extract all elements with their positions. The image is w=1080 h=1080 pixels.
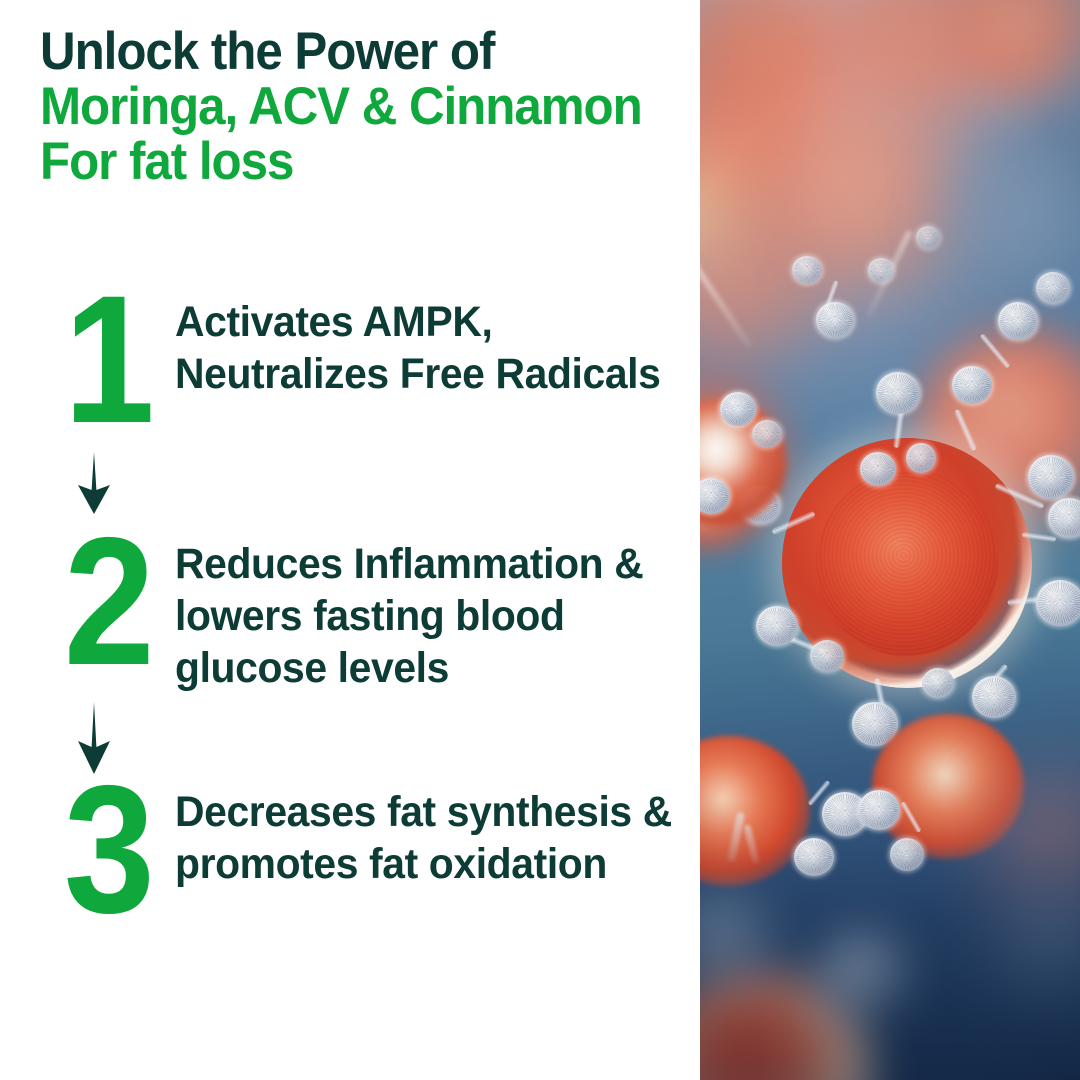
receptor-cluster: [752, 420, 782, 448]
step-item-3: 3 Decreases fat synthesis & promotes fat…: [40, 780, 690, 918]
step-number-3: 3: [47, 780, 169, 918]
step-text-3: Decreases fat synthesis & promotes fat o…: [175, 780, 672, 890]
step-text-2-line-1: Reduces Inflammation &: [175, 538, 643, 590]
step-text-3-line-2: promotes fat oxidation: [175, 838, 672, 890]
step-text-3-line-1: Decreases fat synthesis &: [175, 786, 672, 838]
receptor-cluster: [756, 606, 798, 646]
step-text-1-line-2: Neutralizes Free Radicals: [175, 348, 660, 400]
cell-biology-illustration: [700, 0, 1080, 1080]
receptor-cluster: [1036, 272, 1070, 304]
receptor-cluster: [1028, 455, 1074, 499]
steps-list: 1 Activates AMPK, Neutralizes Free Radic…: [0, 0, 700, 1080]
receptor-cluster: [794, 838, 834, 876]
step-text-2-line-3: glucose levels: [175, 642, 643, 694]
receptor-cluster: [890, 838, 924, 871]
receptor-cluster: [922, 668, 954, 698]
receptor-cluster: [858, 790, 900, 830]
receptor-cluster: [816, 302, 854, 338]
receptor-cluster: [998, 302, 1038, 340]
receptor-cluster: [952, 366, 992, 404]
hero-cell-nucleus: [816, 470, 998, 656]
step-text-2-line-2: lowers fasting blood: [175, 590, 643, 642]
infographic-page: Unlock the Power of Moringa, ACV & Cinna…: [0, 0, 1080, 1080]
step-text-1: Activates AMPK, Neutralizes Free Radical…: [175, 290, 660, 400]
receptor-cluster: [810, 640, 844, 672]
step-item-2: 2 Reduces Inflammation & lowers fasting …: [40, 532, 690, 694]
receptor-cluster: [1036, 580, 1080, 626]
step-text-2: Reduces Inflammation & lowers fasting bl…: [175, 532, 643, 694]
bg-cell-blur: [810, 930, 915, 1030]
receptor-cluster: [720, 392, 756, 426]
step-item-1: 1 Activates AMPK, Neutralizes Free Radic…: [40, 290, 690, 428]
step-number-1: 1: [47, 290, 169, 428]
receptor-cluster: [906, 443, 936, 473]
step-text-1-line-1: Activates AMPK,: [175, 296, 660, 348]
receptor-cluster: [876, 372, 920, 414]
step-number-2: 2: [47, 532, 169, 670]
receptor-cluster: [860, 452, 896, 486]
receptor-cluster: [916, 226, 940, 249]
receptor-cluster: [972, 676, 1016, 718]
receptor-cluster: [792, 256, 822, 284]
text-column: Unlock the Power of Moringa, ACV & Cinna…: [0, 0, 700, 1080]
